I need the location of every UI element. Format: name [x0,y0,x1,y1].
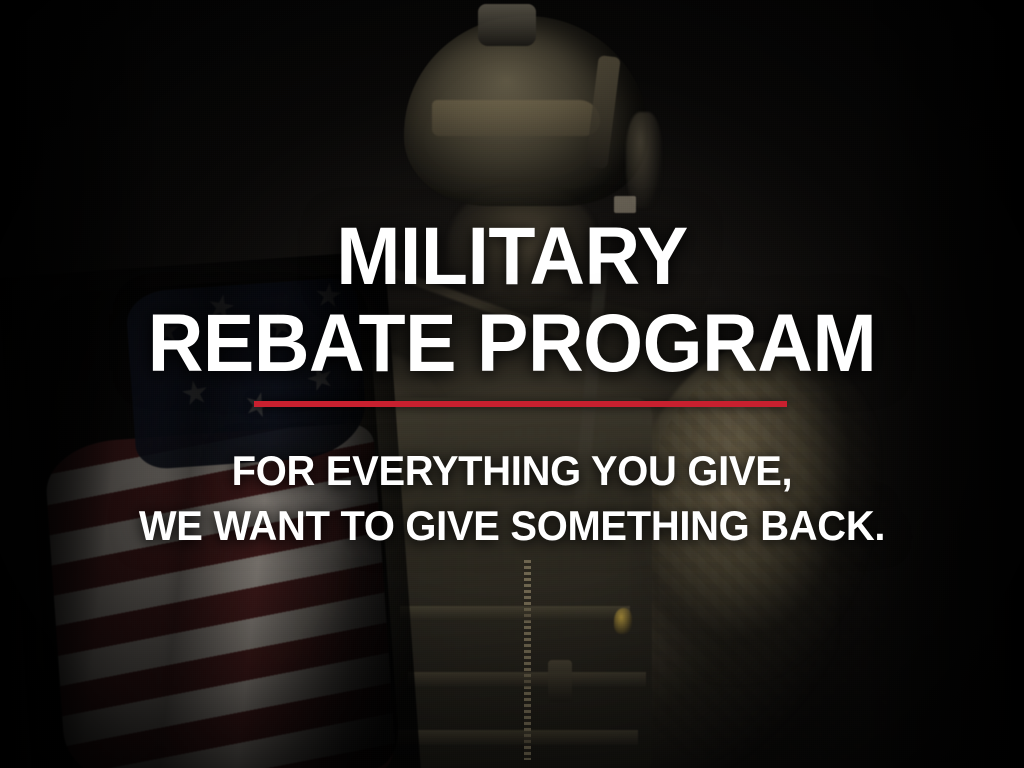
headline-line-2: REBATE PROGRAM [31,303,994,385]
text-overlay: MILITARY REBATE PROGRAM FOR EVERYTHING Y… [0,0,1024,768]
red-divider-rule [254,401,787,407]
subheading-line-1: FOR EVERYTHING YOU GIVE, [26,450,999,492]
headline-line-1: MILITARY [31,216,994,298]
military-rebate-poster: MILITARY REBATE PROGRAM FOR EVERYTHING Y… [0,0,1024,768]
subheading-line-2: WE WANT TO GIVE SOMETHING BACK. [26,505,999,547]
